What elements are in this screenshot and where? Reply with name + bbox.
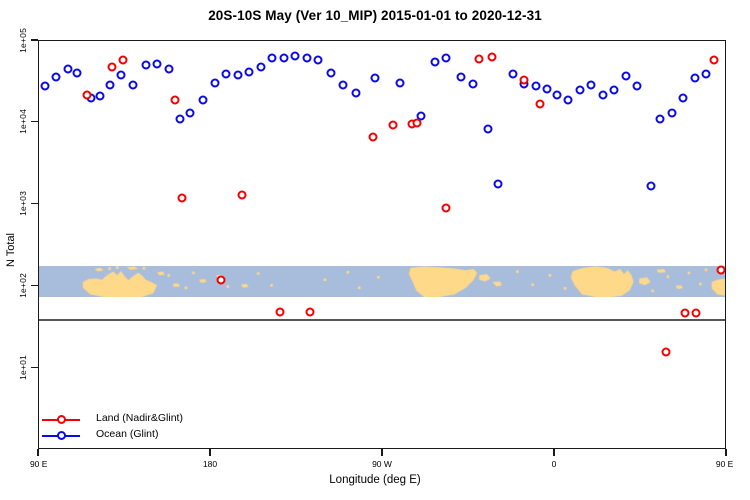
data-point-ocean: [396, 78, 405, 87]
data-point-ocean: [222, 69, 231, 78]
legend-label: Ocean (Glint): [96, 428, 158, 440]
data-point-ocean: [468, 79, 477, 88]
data-point-ocean: [543, 84, 552, 93]
data-point-land: [388, 120, 397, 129]
data-point-ocean: [210, 78, 219, 87]
legend-item: Ocean (Glint): [42, 428, 242, 444]
data-point-land: [107, 63, 116, 72]
data-point-ocean: [128, 80, 137, 89]
data-point-ocean: [371, 74, 380, 83]
data-point-ocean: [153, 60, 162, 69]
data-point-land: [661, 347, 670, 356]
data-point-land: [275, 308, 284, 317]
data-point-land: [474, 55, 483, 64]
data-point-land: [487, 52, 496, 61]
data-point-ocean: [338, 80, 347, 89]
legend-marker: [57, 415, 66, 424]
x-axis-tick: [209, 449, 210, 456]
y-axis-tick-label: 1e+02: [0, 263, 30, 307]
data-point-ocean: [327, 68, 336, 77]
x-axis-tick-label: 90 E: [30, 459, 48, 469]
data-point-ocean: [233, 71, 242, 80]
data-point-ocean: [185, 109, 194, 118]
data-point-ocean: [52, 73, 61, 82]
x-axis-tick: [553, 449, 554, 456]
data-point-ocean: [575, 86, 584, 95]
legend-label: Land (Nadir&Glint): [96, 412, 183, 424]
legend-item: Land (Nadir&Glint): [42, 412, 242, 428]
data-point-ocean: [493, 179, 502, 188]
data-point-ocean: [442, 53, 451, 62]
y-axis-tick-label: 1e+01: [0, 345, 30, 389]
y-axis-tick: [31, 121, 38, 122]
horizontal-separator-line: [39, 319, 725, 321]
data-point-ocean: [268, 53, 277, 62]
data-point-land: [535, 99, 544, 108]
data-point-land: [520, 76, 529, 85]
data-point-land: [178, 194, 187, 203]
data-point-ocean: [508, 69, 517, 78]
data-point-ocean: [587, 80, 596, 89]
chart-title: 20S-10S May (Ver 10_MIP) 2015-01-01 to 2…: [0, 8, 750, 23]
data-point-ocean: [531, 82, 540, 91]
data-point-ocean: [63, 65, 72, 74]
data-point-ocean: [690, 74, 699, 83]
x-axis-tick: [37, 449, 38, 456]
data-point-ocean: [656, 115, 665, 124]
plot-area: [38, 40, 726, 449]
data-point-ocean: [610, 86, 619, 95]
data-point-ocean: [176, 115, 185, 124]
land-ocean-map-canvas: [39, 266, 725, 297]
data-point-ocean: [245, 67, 254, 76]
data-point-ocean: [430, 57, 439, 66]
data-point-ocean: [484, 124, 493, 133]
y-axis-tick-label: 1e+04: [0, 100, 30, 144]
legend: Land (Nadir&Glint)Ocean (Glint): [42, 412, 242, 444]
legend-marker: [57, 431, 66, 440]
x-axis-tick-label: 0: [552, 459, 557, 469]
data-point-ocean: [564, 95, 573, 104]
data-point-land: [82, 90, 91, 99]
data-point-land: [717, 265, 726, 274]
data-point-ocean: [457, 73, 466, 82]
data-point-land: [119, 56, 128, 65]
data-point-ocean: [73, 68, 82, 77]
data-point-land: [413, 119, 422, 128]
data-point-ocean: [117, 71, 126, 80]
y-axis-tick: [31, 367, 38, 368]
data-point-ocean: [105, 80, 114, 89]
data-point-ocean: [314, 56, 323, 65]
data-point-ocean: [164, 64, 173, 73]
data-point-ocean: [621, 72, 630, 81]
data-point-ocean: [598, 90, 607, 99]
x-axis-label: Longitude (deg E): [0, 474, 750, 486]
data-point-ocean: [552, 90, 561, 99]
data-point-ocean: [352, 89, 361, 98]
x-axis-tick: [725, 449, 726, 456]
land-ocean-strip: [39, 266, 725, 297]
data-point-ocean: [701, 70, 710, 79]
data-point-ocean: [633, 82, 642, 91]
y-axis-tick: [31, 39, 38, 40]
data-point-ocean: [256, 63, 265, 72]
x-axis-tick-label: 90 E: [716, 459, 734, 469]
data-point-ocean: [142, 60, 151, 69]
data-point-ocean: [679, 94, 688, 103]
data-point-land: [170, 95, 179, 104]
data-point-ocean: [199, 95, 208, 104]
x-axis-tick-label: 90 W: [372, 459, 392, 469]
data-point-ocean: [96, 92, 105, 101]
data-point-land: [306, 308, 315, 317]
data-point-ocean: [279, 53, 288, 62]
data-point-land: [692, 309, 701, 318]
data-point-land: [216, 275, 225, 284]
data-point-land: [369, 133, 378, 142]
y-axis-tick: [31, 285, 38, 286]
data-point-land: [709, 56, 718, 65]
data-point-land: [442, 203, 451, 212]
figure-root: 20S-10S May (Ver 10_MIP) 2015-01-01 to 2…: [0, 0, 750, 500]
data-point-ocean: [40, 82, 49, 91]
y-axis-tick-label: 1e+05: [0, 18, 30, 62]
data-point-ocean: [646, 181, 655, 190]
data-point-ocean: [667, 109, 676, 118]
data-point-land: [680, 309, 689, 318]
data-point-ocean: [302, 53, 311, 62]
y-axis-label-wrap: N Total: [0, 0, 20, 500]
data-point-ocean: [291, 52, 300, 61]
y-axis-tick: [31, 203, 38, 204]
x-axis-tick-label: 180: [203, 459, 217, 469]
y-axis-tick-label: 1e+03: [0, 182, 30, 226]
x-axis-tick: [381, 449, 382, 456]
data-point-land: [237, 191, 246, 200]
